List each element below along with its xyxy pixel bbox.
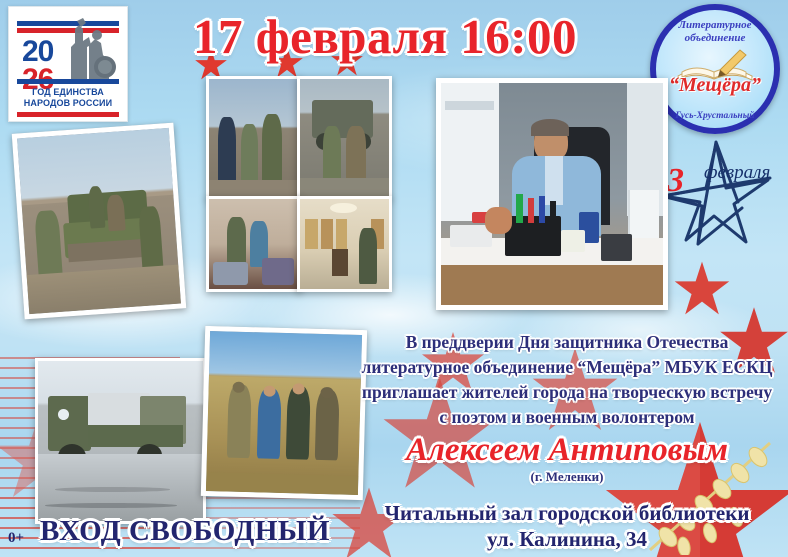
logo-2026-year-of-unity: 20 26 ГОД ЕДИНСТВА НАРОДОВ РОССИИ — [8, 6, 128, 122]
photo-portrait-at-desk — [436, 78, 668, 310]
poster-canvas: 20 26 ГОД ЕДИНСТВА НАРОДОВ РОССИИ Литера… — [0, 0, 788, 557]
photo-indoor-supplies-room — [206, 196, 301, 292]
guest-city: (г. Меленки) — [352, 469, 782, 485]
photo-soldiers-unloading-truck — [12, 123, 187, 320]
announcement-line-1: В преддверии Дня защитника Отечества — [352, 330, 782, 355]
guest-name: Алексеем Антиповым — [352, 432, 782, 469]
feb23-word: февраля — [704, 162, 770, 184]
monument-icon — [53, 15, 119, 97]
page-title: 17 февраля 16:00 — [150, 8, 620, 65]
announcement-line-4: с поэтом и военным волонтером — [352, 405, 782, 430]
announcement-line-2: литературное объединение “Мещёра” МБУК Е… — [352, 355, 782, 380]
photo-four-men-steppe — [201, 326, 367, 500]
venue-line-2: ул. Калинина, 34 — [352, 526, 782, 552]
emblem-city: Гусь-Хрустальный — [656, 111, 774, 121]
venue-block: Читальный зал городской библиотеки ул. К… — [352, 500, 782, 552]
age-rating-badge: 0+ — [8, 530, 24, 547]
logo-caption-line2: НАРОДОВ РОССИИ — [9, 98, 127, 109]
venue-line-1: Читальный зал городской библиотеки — [352, 500, 782, 526]
emblem-top-line2: объединение — [656, 32, 774, 45]
announcement-line-3: приглашает жителей города на творческую … — [352, 380, 782, 405]
logo-caption-line1: ГОД ЕДИНСТВА — [9, 87, 127, 98]
meshchera-literary-association-emblem: Литературное объединение “Мещёра” Гусь-Х… — [650, 4, 780, 134]
emblem-name: “Мещёра” — [656, 74, 774, 97]
photo-three-men-muddy-field — [206, 76, 301, 200]
photo-two-soldiers-by-truck — [297, 76, 392, 200]
free-entry-label: ВХОД СВОБОДНЫЙ — [40, 515, 330, 548]
emblem-top-line1: Литературное — [656, 19, 774, 32]
photo-military-truck-snow — [35, 358, 206, 524]
background-star-4 — [673, 260, 731, 316]
photo-chapel-interior — [297, 196, 392, 292]
announcement-text-block: В преддверии Дня защитника Отечества лит… — [352, 330, 782, 485]
